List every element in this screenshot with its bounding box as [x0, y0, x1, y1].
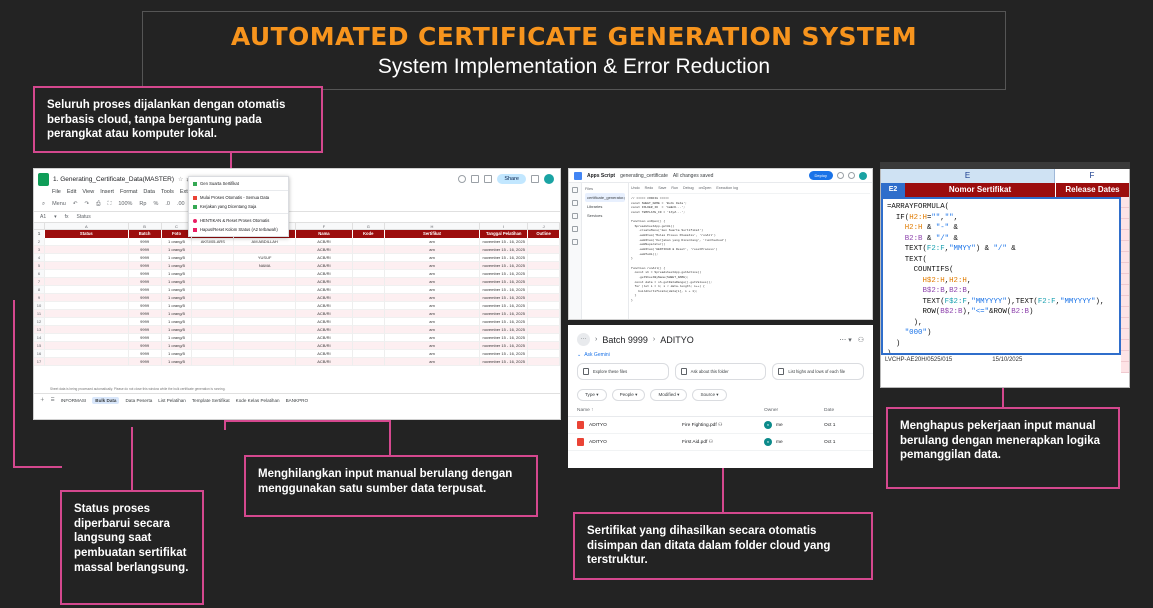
cell[interactable] — [353, 278, 385, 286]
history-icon[interactable] — [458, 175, 466, 183]
cell[interactable]: november 15 - 16, 2025 — [480, 278, 528, 286]
sheet-data-rows[interactable]: 299991 orang/5AKSI/05-ARSAM ABDILLAHACB/… — [34, 238, 560, 366]
menu-edit[interactable]: Edit — [67, 189, 76, 195]
cell[interactable] — [528, 238, 560, 246]
cell[interactable] — [45, 310, 129, 318]
cell[interactable]: 9999 — [129, 246, 162, 254]
cell[interactable] — [353, 358, 385, 366]
table-row[interactable]: 1199991 orang/5ACB/RIamnovember 15 - 16,… — [34, 310, 560, 318]
cell[interactable] — [353, 254, 385, 262]
cell[interactable] — [234, 278, 296, 286]
cell[interactable]: am — [385, 350, 481, 358]
apps-script-file-list[interactable]: Files certificate_generator.gs Libraries… — [582, 183, 629, 320]
cell[interactable]: ACB/RI — [296, 326, 353, 334]
chevron-down-icon[interactable]: ⌄ — [577, 352, 581, 358]
redo-icon[interactable]: Redo — [645, 186, 654, 190]
table-row[interactable]: 299991 orang/5AKSI/05-ARSAM ABDILLAHACB/… — [34, 238, 560, 246]
cell[interactable] — [353, 326, 385, 334]
toolbar-menu-label[interactable]: Menu — [52, 201, 66, 207]
cell[interactable] — [353, 238, 385, 246]
function-select[interactable]: onOpen — [699, 186, 712, 190]
run-button[interactable]: Run — [671, 186, 678, 190]
cell[interactable]: 1 orang/5 — [162, 334, 193, 342]
apps-script-rail[interactable] — [569, 183, 582, 320]
cell[interactable] — [353, 334, 385, 342]
apps-icon[interactable] — [531, 175, 539, 183]
cell[interactable] — [234, 286, 296, 294]
name-box[interactable]: A1 — [40, 214, 46, 220]
cell[interactable]: ACB/RI — [296, 246, 353, 254]
cell[interactable] — [353, 262, 385, 270]
cell[interactable]: november 15 - 16, 2025 — [480, 270, 528, 278]
cell[interactable] — [528, 334, 560, 342]
cell[interactable] — [353, 270, 385, 278]
cell[interactable] — [528, 246, 560, 254]
cell[interactable]: am — [385, 238, 481, 246]
google-sheets-window[interactable]: 1. Generating_Certificate_Data(MASTER) ☆… — [33, 168, 561, 420]
cell[interactable] — [192, 318, 234, 326]
google-drive-window[interactable]: ··· › Batch 9999 › ADITYO ⋯ ▾ ⚇ ⌄ Ask Ge… — [568, 325, 873, 468]
col-H[interactable]: H — [385, 223, 481, 229]
cell[interactable]: ACB/RI — [296, 310, 353, 318]
cell[interactable] — [528, 350, 560, 358]
cell[interactable]: AKSI/05-ARS — [192, 238, 234, 246]
more-options-icon[interactable]: ⋯ ▾ — [839, 336, 851, 344]
cell[interactable]: am — [385, 262, 481, 270]
script-file-libraries[interactable]: Libraries — [585, 202, 625, 211]
cell[interactable] — [234, 342, 296, 350]
cell[interactable]: 1 orang/5 — [162, 342, 193, 350]
drive-filters[interactable]: Type ▾ People ▾ Modified ▾ Source ▾ — [568, 383, 873, 405]
filter-people[interactable]: People ▾ — [612, 389, 646, 401]
cell[interactable] — [353, 342, 385, 350]
cell[interactable]: am — [385, 246, 481, 254]
table-row[interactable]: 1499991 orang/5ACB/RIamnovember 15 - 16,… — [34, 334, 560, 342]
share-folder-icon[interactable]: ⚇ — [858, 336, 864, 344]
cell[interactable] — [234, 310, 296, 318]
cell[interactable] — [192, 342, 234, 350]
cell[interactable]: november 15 - 16, 2025 — [480, 358, 528, 366]
formula-panel-window[interactable]: E F E2 Nomor Sertifikat Release Dates =A… — [880, 168, 1130, 388]
column-owner[interactable]: Owner — [764, 408, 824, 413]
menu-view[interactable]: View — [82, 189, 94, 195]
menu-format[interactable]: Format — [120, 189, 137, 195]
cell[interactable]: ACB/RI — [296, 318, 353, 326]
sheet-tab-data-peserta[interactable]: Data Peserta — [125, 398, 152, 403]
editor-icon[interactable] — [572, 200, 578, 206]
table-row[interactable]: 599991 orang/5NAMAACB/RIamnovember 15 - … — [34, 262, 560, 270]
all-sheets-icon[interactable]: ☰ — [51, 397, 55, 403]
cell[interactable] — [45, 270, 129, 278]
cell[interactable] — [45, 318, 129, 326]
cell[interactable] — [528, 342, 560, 350]
table-row[interactable]: 1699991 orang/5ACB/RIamnovember 15 - 16,… — [34, 350, 560, 358]
breadcrumb-batch[interactable]: Batch 9999 — [602, 335, 648, 345]
cell[interactable]: am — [385, 342, 481, 350]
cell[interactable]: am — [385, 334, 481, 342]
suggestion-list-highs-lows[interactable]: List highs and lows of each file — [772, 363, 864, 380]
cell[interactable]: am — [385, 270, 481, 278]
cell[interactable] — [45, 358, 129, 366]
menu-insert[interactable]: Insert — [100, 189, 114, 195]
cell[interactable]: 9999 — [129, 334, 162, 342]
zoom-level[interactable]: 100% — [118, 201, 132, 207]
print-icon[interactable]: ⎙ — [96, 201, 100, 208]
sheet-tab-list-pelatihan[interactable]: List Pelatihan — [158, 398, 186, 403]
row-number[interactable]: 13 — [34, 326, 45, 334]
row-number[interactable]: 11 — [34, 310, 45, 318]
table-row[interactable]: 799991 orang/5ACB/RIamnovember 15 - 16, … — [34, 278, 560, 286]
row-number[interactable]: 9 — [34, 294, 45, 302]
table-row[interactable]: 399991 orang/5ACB/RIamnovember 15 - 16, … — [34, 246, 560, 254]
apps-grid-icon[interactable] — [848, 172, 855, 179]
menu-item-mulai-proses[interactable]: Mulai Proses Otomatis - Semua Data — [189, 193, 288, 202]
cell[interactable] — [192, 270, 234, 278]
cell[interactable]: 9999 — [129, 286, 162, 294]
table-row[interactable]: 499991 orang/5YUSUFACB/RIamnovember 15 -… — [34, 254, 560, 262]
cell[interactable] — [192, 302, 234, 310]
row-number[interactable]: 16 — [34, 350, 45, 358]
cell[interactable]: november 15 - 16, 2025 — [480, 342, 528, 350]
cell[interactable] — [45, 294, 129, 302]
cell[interactable]: 9999 — [129, 270, 162, 278]
cell[interactable] — [234, 350, 296, 358]
deploy-button[interactable]: Deploy — [809, 171, 833, 180]
meet-icon[interactable] — [484, 175, 492, 183]
filter-modified[interactable]: Modified ▾ — [650, 389, 687, 401]
cell[interactable]: am — [385, 358, 481, 366]
formula-input[interactable]: Status — [77, 214, 91, 220]
cell[interactable]: 9999 — [129, 302, 162, 310]
row-number[interactable]: 14 — [34, 334, 45, 342]
row-number[interactable]: 17 — [34, 358, 45, 366]
col-J[interactable]: J — [528, 223, 560, 229]
cell[interactable] — [528, 262, 560, 270]
cell[interactable]: ACB/RI — [296, 294, 353, 302]
cell[interactable]: 1 orang/5 — [162, 270, 193, 278]
cell[interactable]: november 15 - 16, 2025 — [480, 246, 528, 254]
column-date[interactable]: Date — [824, 408, 864, 413]
custom-menu-popup[interactable]: Gen Suarta Sertifikat Mulai Proses Otoma… — [188, 176, 289, 237]
cell[interactable]: 9999 — [129, 342, 162, 350]
col-G[interactable]: G — [353, 223, 385, 229]
cell[interactable]: november 15 - 16, 2025 — [480, 318, 528, 326]
sheets-grid[interactable]: A B C D E F G H I J 1 Status Batch Foto … — [34, 223, 560, 406]
cell[interactable]: 9999 — [129, 278, 162, 286]
apps-script-project-name[interactable]: generating_certificate — [620, 173, 668, 179]
undo-icon[interactable]: Undo — [631, 186, 640, 190]
undo-icon[interactable]: ↶ — [73, 201, 78, 207]
cell[interactable] — [45, 286, 129, 294]
script-file-services[interactable]: Services — [585, 211, 625, 220]
cell[interactable]: 9999 — [129, 238, 162, 246]
cell[interactable]: 9999 — [129, 326, 162, 334]
cell[interactable]: ACB/RI — [296, 358, 353, 366]
drive-file-row[interactable]: ADITYO First Aid.pdf ⚇ n me Oct 1 — [568, 434, 873, 451]
cell[interactable]: november 15 - 16, 2025 — [480, 310, 528, 318]
cell[interactable]: ACB/RI — [296, 270, 353, 278]
table-row[interactable]: 1099991 orang/5ACB/RIamnovember 15 - 16,… — [34, 302, 560, 310]
cell[interactable]: 1 orang/5 — [162, 294, 193, 302]
cell[interactable]: 9999 — [129, 318, 162, 326]
cell[interactable] — [234, 302, 296, 310]
sheet-tab-bar[interactable]: ＋ ☰ INFORMASI Bulk Data Data Peserta Lis… — [34, 393, 560, 406]
paint-icon[interactable]: ⛶ — [107, 201, 111, 208]
overview-icon[interactable] — [572, 187, 578, 193]
cell[interactable]: november 15 - 16, 2025 — [480, 262, 528, 270]
cell[interactable]: am — [385, 302, 481, 310]
cell[interactable] — [192, 334, 234, 342]
sheet-tab-bulk-data[interactable]: Bulk Data — [92, 397, 119, 404]
cell[interactable]: am — [385, 254, 481, 262]
row-number[interactable]: 12 — [34, 318, 45, 326]
cell[interactable] — [192, 254, 234, 262]
triggers-icon[interactable] — [572, 213, 578, 219]
formula-col-E[interactable]: E — [881, 169, 1055, 183]
cell[interactable]: november 15 - 16, 2025 — [480, 254, 528, 262]
cell[interactable] — [234, 270, 296, 278]
ask-gemini-label[interactable]: Ask Gemini — [584, 352, 610, 358]
table-row[interactable]: 1799991 orang/5ACB/RIamnovember 15 - 16,… — [34, 358, 560, 366]
menu-item-hentikan-reset[interactable]: HENTIKAN & Reset Proses Otomatis — [189, 216, 288, 225]
cell[interactable]: 1 orang/5 — [162, 326, 193, 334]
cell[interactable] — [528, 310, 560, 318]
formula-text[interactable]: =ARRAYFORMULA( IF(H2:H="","", H2:H & "-"… — [887, 202, 1115, 355]
apps-script-window[interactable]: Apps Script generating_certificate All c… — [568, 168, 873, 320]
cell[interactable] — [192, 358, 234, 366]
cell[interactable] — [234, 318, 296, 326]
cell[interactable]: 1 orang/5 — [162, 318, 193, 326]
cell[interactable]: YUSUF — [234, 254, 296, 262]
table-row[interactable]: 999991 orang/5ACB/RIamnovember 15 - 16, … — [34, 294, 560, 302]
comment-icon[interactable] — [471, 175, 479, 183]
cell[interactable] — [528, 318, 560, 326]
cell[interactable]: 1 orang/5 — [162, 262, 193, 270]
menu-item-kerjakan-dicentang[interactable]: Kerjakan yang Dicentang Saja — [189, 202, 288, 211]
cell[interactable] — [192, 350, 234, 358]
sheet-tab-bankpro[interactable]: BANKPRO — [286, 398, 308, 403]
cell[interactable]: 1 orang/5 — [162, 302, 193, 310]
ask-gemini-row[interactable]: ⌄ Ask Gemini — [568, 350, 873, 360]
cell[interactable] — [192, 278, 234, 286]
row-number[interactable]: 7 — [34, 278, 45, 286]
star-icon[interactable]: ☆ — [178, 176, 183, 183]
cell[interactable]: am — [385, 310, 481, 318]
cell[interactable] — [528, 326, 560, 334]
menu-file[interactable]: File — [52, 189, 61, 195]
sheets-toolbar[interactable]: ⌕ Menu ↶ ↷ ⎙ ⛶ 100% Rp % .0 .00 123 Defa… — [34, 197, 560, 212]
table-row[interactable]: 1299991 orang/5ACB/RIamnovember 15 - 16,… — [34, 318, 560, 326]
menu-data[interactable]: Data — [143, 189, 155, 195]
cell[interactable]: ACB/RI — [296, 262, 353, 270]
table-row[interactable]: 699991 orang/5ACB/RIamnovember 15 - 16, … — [34, 270, 560, 278]
cell[interactable]: november 15 - 16, 2025 — [480, 286, 528, 294]
row-number[interactable]: 10 — [34, 302, 45, 310]
row-number[interactable]: 3 — [34, 246, 45, 254]
cell[interactable] — [528, 270, 560, 278]
cell[interactable] — [234, 334, 296, 342]
cell[interactable] — [192, 310, 234, 318]
cell[interactable] — [45, 334, 129, 342]
row-number[interactable]: 15 — [34, 342, 45, 350]
cell[interactable] — [45, 350, 129, 358]
cell[interactable] — [353, 302, 385, 310]
row-number[interactable]: 6 — [34, 270, 45, 278]
row-number[interactable]: 4 — [34, 254, 45, 262]
sheets-doc-title[interactable]: 1. Generating_Certificate_Data(MASTER) — [53, 176, 174, 183]
cell[interactable]: am — [385, 278, 481, 286]
cell[interactable]: 9999 — [129, 358, 162, 366]
search-icon[interactable]: ⌕ — [42, 201, 45, 208]
cell[interactable] — [45, 246, 129, 254]
cell[interactable]: ACB/RI — [296, 286, 353, 294]
cell[interactable]: november 15 - 16, 2025 — [480, 302, 528, 310]
cell[interactable] — [528, 302, 560, 310]
cell[interactable] — [192, 294, 234, 302]
redo-icon[interactable]: ↷ — [84, 201, 89, 207]
code-editor-content[interactable]: // ===== CONFIG ===== const SHEET_NAME =… — [631, 197, 870, 304]
cell[interactable]: 9999 — [129, 310, 162, 318]
add-sheet-icon[interactable]: ＋ — [40, 397, 45, 403]
cell[interactable]: 1 orang/5 — [162, 246, 193, 254]
col-I[interactable]: I — [480, 223, 528, 229]
cell[interactable] — [353, 350, 385, 358]
table-row[interactable]: 1599991 orang/5ACB/RIamnovember 15 - 16,… — [34, 342, 560, 350]
table-row[interactable]: 899991 orang/5ACB/RIamnovember 15 - 16, … — [34, 286, 560, 294]
filter-source[interactable]: Source ▾ — [692, 389, 726, 401]
apps-script-editor[interactable]: Undo Redo Save Run Debug onOpen Executio… — [629, 183, 872, 320]
cell[interactable]: november 15 - 16, 2025 — [480, 294, 528, 302]
cell[interactable] — [234, 294, 296, 302]
row-number[interactable]: 8 — [34, 286, 45, 294]
cell[interactable]: AM ABDILLAH — [234, 238, 296, 246]
share-button[interactable]: Share — [497, 174, 526, 184]
currency-icon[interactable]: Rp — [139, 201, 146, 207]
filter-type[interactable]: Type ▾ — [577, 389, 607, 401]
cell[interactable]: ACB/RI — [296, 342, 353, 350]
executions-icon[interactable] — [572, 226, 578, 232]
column-name[interactable]: Name ↑ — [577, 408, 682, 413]
editor-toolbar[interactable]: Undo Redo Save Run Debug onOpen Executio… — [631, 186, 870, 194]
cell[interactable]: 1 orang/5 — [162, 238, 193, 246]
save-icon[interactable]: Save — [658, 186, 666, 190]
cell[interactable]: november 15 - 16, 2025 — [480, 326, 528, 334]
help-icon[interactable] — [837, 172, 844, 179]
cell[interactable]: 9999 — [129, 262, 162, 270]
suggestion-ask-folder[interactable]: Ask about this folder — [675, 363, 767, 380]
cell[interactable]: ACB/RI — [296, 334, 353, 342]
cell[interactable]: ACB/RI — [296, 254, 353, 262]
cell[interactable] — [353, 294, 385, 302]
overflow-icon[interactable]: ··· — [577, 333, 590, 346]
percent-icon[interactable]: % — [153, 201, 158, 207]
cell[interactable]: ACB/RI — [296, 302, 353, 310]
cell[interactable]: am — [385, 286, 481, 294]
cell[interactable] — [45, 302, 129, 310]
row-number[interactable]: 2 — [34, 238, 45, 246]
cell[interactable] — [528, 286, 560, 294]
project-settings-icon[interactable] — [572, 239, 578, 245]
cell[interactable] — [353, 246, 385, 254]
cell[interactable]: 9999 — [129, 254, 162, 262]
decimal-dec-icon[interactable]: .0 — [165, 201, 170, 207]
cell[interactable]: november 15 - 16, 2025 — [480, 238, 528, 246]
sheet-tab-kode-kelas[interactable]: Kode Kelas Pelatihan — [236, 398, 280, 403]
formula-editor-cell[interactable]: =ARRAYFORMULA( IF(H2:H="","", H2:H & "-"… — [881, 197, 1121, 355]
row-number[interactable]: 5 — [34, 262, 45, 270]
cell[interactable] — [45, 326, 129, 334]
debug-button[interactable]: Debug — [683, 186, 694, 190]
script-file-certificate-generator[interactable]: certificate_generator.gs — [585, 193, 625, 202]
drive-file-row[interactable]: ADITYO Fire Fighting.pdf ⚇ n me Oct 1 — [568, 417, 873, 434]
cell[interactable]: 9999 — [129, 294, 162, 302]
cell[interactable]: 1 orang/5 — [162, 358, 193, 366]
cell[interactable] — [192, 286, 234, 294]
cell[interactable]: 9999 — [129, 350, 162, 358]
cell[interactable]: am — [385, 318, 481, 326]
col-A[interactable]: A — [45, 223, 129, 229]
cell[interactable]: november 15 - 16, 2025 — [480, 350, 528, 358]
cell[interactable]: ACB/RI — [296, 238, 353, 246]
avatar[interactable] — [859, 172, 867, 180]
cell[interactable] — [45, 342, 129, 350]
cell[interactable]: ACB/RI — [296, 350, 353, 358]
cell[interactable] — [192, 326, 234, 334]
cell[interactable] — [234, 358, 296, 366]
breadcrumb-adityo[interactable]: ADITYO — [660, 335, 694, 345]
cell[interactable]: 1 orang/5 — [162, 310, 193, 318]
cell[interactable] — [45, 262, 129, 270]
sheet-tab-informasi[interactable]: INFORMASI — [61, 398, 87, 403]
sheet-tab-template-sertifikat[interactable]: Template Sertifikat — [192, 398, 230, 403]
cell[interactable] — [528, 278, 560, 286]
sheets-formula-bar[interactable]: A1 ▾ fx Status — [34, 212, 560, 223]
cell[interactable]: am — [385, 326, 481, 334]
col-B[interactable]: B — [129, 223, 162, 229]
cell[interactable] — [45, 278, 129, 286]
cell[interactable] — [353, 286, 385, 294]
cell[interactable]: 1 orang/5 — [162, 278, 193, 286]
sheets-menubar[interactable]: File Edit View Insert Format Data Tools … — [34, 189, 560, 197]
formula-col-F[interactable]: F — [1055, 169, 1129, 183]
menu-item-hapus-kolom-status[interactable]: Hapus/Reset Kolom Status (A2 terbawah) — [189, 225, 288, 234]
drive-breadcrumb[interactable]: ··· › Batch 9999 › ADITYO ⋯ ▾ ⚇ — [568, 325, 873, 350]
cell[interactable] — [45, 238, 129, 246]
chevron-down-icon[interactable]: ▾ — [54, 214, 57, 220]
suggestion-explore-files[interactable]: Explore these files — [577, 363, 669, 380]
cell[interactable] — [353, 310, 385, 318]
cell[interactable]: NAMA — [234, 262, 296, 270]
cell[interactable] — [234, 326, 296, 334]
sort-arrow-up-icon[interactable]: ↑ — [591, 408, 593, 413]
decimal-inc-icon[interactable]: .00 — [177, 201, 185, 207]
gemini-suggestions[interactable]: Explore these files Ask about this folde… — [568, 360, 873, 383]
cell[interactable]: am — [385, 294, 481, 302]
cell[interactable] — [192, 262, 234, 270]
cell[interactable]: november 15 - 16, 2025 — [480, 334, 528, 342]
cell[interactable] — [353, 318, 385, 326]
cell[interactable] — [528, 358, 560, 366]
cell[interactable] — [192, 246, 234, 254]
menu-tools[interactable]: Tools — [161, 189, 174, 195]
cell[interactable]: 1 orang/5 — [162, 286, 193, 294]
cell[interactable]: ACB/RI — [296, 278, 353, 286]
cell[interactable] — [528, 254, 560, 262]
execution-log-button[interactable]: Execution log — [716, 186, 738, 190]
cell[interactable]: 1 orang/5 — [162, 350, 193, 358]
cell[interactable]: 1 orang/5 — [162, 254, 193, 262]
col-F[interactable]: F — [296, 223, 353, 229]
